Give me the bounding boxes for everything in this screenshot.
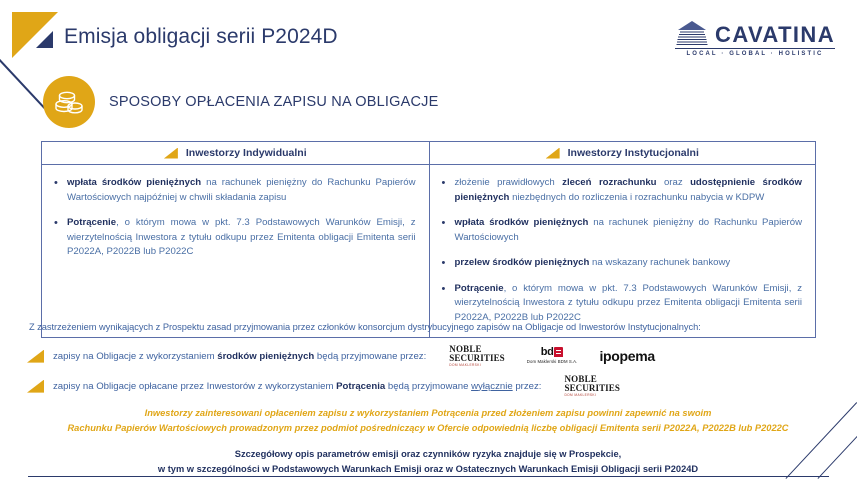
table-header-row: Inwestorzy Indywidualni Inwestorzy Insty… [42,142,815,165]
channel-offset-logos: NOBLE SECURITIES DOM MAKLERSKI [564,375,620,397]
noble-securities-logo: NOBLE SECURITIES DOM MAKLERSKI [449,345,505,367]
coins-glyph-icon [54,89,84,115]
list-item: przelew środków pieniężnych na wskazany … [440,256,803,271]
channel-text-pre: zapisy na Obligacje opłacane przez Inwes… [53,381,336,392]
channel-cash-logos: NOBLE SECURITIES DOM MAKLERSKI bd Dom Ma… [449,345,655,367]
bullet-text: oraz [657,177,691,188]
triangle-bullet-icon [27,380,44,393]
noble-line-3: DOM MAKLERSKI [564,394,620,397]
bullet-bold-term: przelew środków pieniężnych [455,257,590,268]
bullet-bold-term: Potrącenie [67,217,116,228]
channel-text-post: będą przyjmowane przez: [314,351,426,362]
channel-cash-text: zapisy na Obligacje z wykorzystaniem śro… [53,351,426,362]
table-column-individual: wpłata środków pieniężnych na rachunek p… [42,165,429,337]
channel-text-underline: wyłącznie [471,381,513,392]
bullet-text: złożenie prawidłowych [455,177,563,188]
list-item: wpłata środków pieniężnych na rachunek p… [440,216,803,245]
table-header-individual: Inwestorzy Indywidualni [42,142,429,164]
bullet-text: niezbędnych do rozliczenia i rozrachunku… [509,192,764,203]
bdm-subtitle: Dom Maklerski BDM S.A. [527,360,578,364]
list-item: złożenie prawidłowych zleceń rozrachunku… [440,176,803,205]
ipopema-logo: ipopema [599,348,654,364]
channel-text-mid: będą przyjmowane [385,381,471,392]
triangle-bullet-icon [27,350,44,363]
coins-icon [43,76,95,128]
channel-row-offset: zapisy na Obligacje opłacane przez Inwes… [27,375,837,397]
noble-line-2: SECURITIES [449,354,505,363]
individual-bullet-list: wpłata środków pieniężnych na rachunek p… [52,176,416,260]
table-column-institutional: złożenie prawidłowych zleceń rozrachunku… [429,165,816,337]
consortium-note: Z zastrzeżeniem wynikających z Prospektu… [29,322,829,332]
table-header-individual-label: Inwestorzy Indywidualni [186,147,307,159]
channel-text-bold: środków pieniężnych [217,351,314,362]
bullet-text: , o którym mowa w pkt. 7.3 Podstawowych … [455,283,803,323]
table-body: wpłata środków pieniężnych na rachunek p… [42,165,815,337]
logo-wordmark: CAVATINA [715,24,835,46]
page-title: Emisja obligacji serii P2024D [64,25,338,49]
footer-gold-line-1: Inwestorzy zainteresowani opłaceniem zap… [28,406,828,421]
section-heading-label: SPOSOBY OPŁACENIA ZAPISU NA OBLIGACJE [109,94,438,110]
building-mark-icon [675,20,709,46]
footer-gold-note: Inwestorzy zainteresowani opłaceniem zap… [28,406,828,437]
footer-gold-line-2: Rachunku Papierów Wartościowych prowadzo… [28,421,828,436]
bullet-bold-term: Potrącenie [455,283,504,294]
noble-line-3: DOM MAKLERSKI [449,364,505,367]
bullet-text: na wskazany rachunek bankowy [589,257,730,268]
payment-methods-table: Inwestorzy Indywidualni Inwestorzy Insty… [41,141,816,338]
triangle-bullet-icon [546,148,560,159]
bullet-text: , o którym mowa w pkt. 7.3 Podstawowych … [67,217,416,257]
channel-text-bold: Potrącenia [336,381,385,392]
bdm-mark: bd [527,347,578,358]
institutional-bullet-list: złożenie prawidłowych zleceń rozrachunku… [440,176,803,326]
section-heading: SPOSOBY OPŁACENIA ZAPISU NA OBLIGACJE [43,76,438,128]
bullet-bold-term: wpłata środków pieniężnych [67,177,201,188]
channel-row-cash: zapisy na Obligacje z wykorzystaniem śro… [27,345,837,367]
list-item: wpłata środków pieniężnych na rachunek p… [52,176,416,205]
bdm-logo: bd Dom Maklerski BDM S.A. [527,347,578,364]
bdm-red-square-icon [554,347,563,357]
corner-triangle-navy-icon [36,31,53,48]
footer-navy-note: Szczegółowy opis parametrów emisji oraz … [28,447,828,478]
footer-rule [28,476,829,477]
table-header-institutional-label: Inwestorzy Instytucjonalni [568,147,699,159]
list-item: Potrącenie, o którym mowa w pkt. 7.3 Pod… [440,282,803,326]
noble-line-2: SECURITIES [564,384,620,393]
channel-text-pre: zapisy na Obligacje z wykorzystaniem [53,351,217,362]
footer-navy-line-1: Szczegółowy opis parametrów emisji oraz … [28,447,828,462]
logo-tagline: LOCAL · GLOBAL · HOLISTIC [675,48,835,57]
cavatina-logo: CAVATINA LOCAL · GLOBAL · HOLISTIC [675,20,835,57]
bullet-bold-term: wpłata środków pieniężnych [455,217,589,228]
noble-securities-logo: NOBLE SECURITIES DOM MAKLERSKI [564,375,620,397]
table-header-institutional: Inwestorzy Instytucjonalni [429,142,816,164]
bdm-wordmark: bd [541,347,554,358]
list-item: Potrącenie, o którym mowa w pkt. 7.3 Pod… [52,216,416,260]
triangle-bullet-icon [164,148,178,159]
bullet-bold-term: zleceń rozrachunku [562,177,656,188]
channel-offset-text: zapisy na Obligacje opłacane przez Inwes… [53,381,541,392]
channel-text-post: przez: [513,381,542,392]
slide-root: Emisja obligacji serii P2024D CAVATINA L… [0,0,857,483]
